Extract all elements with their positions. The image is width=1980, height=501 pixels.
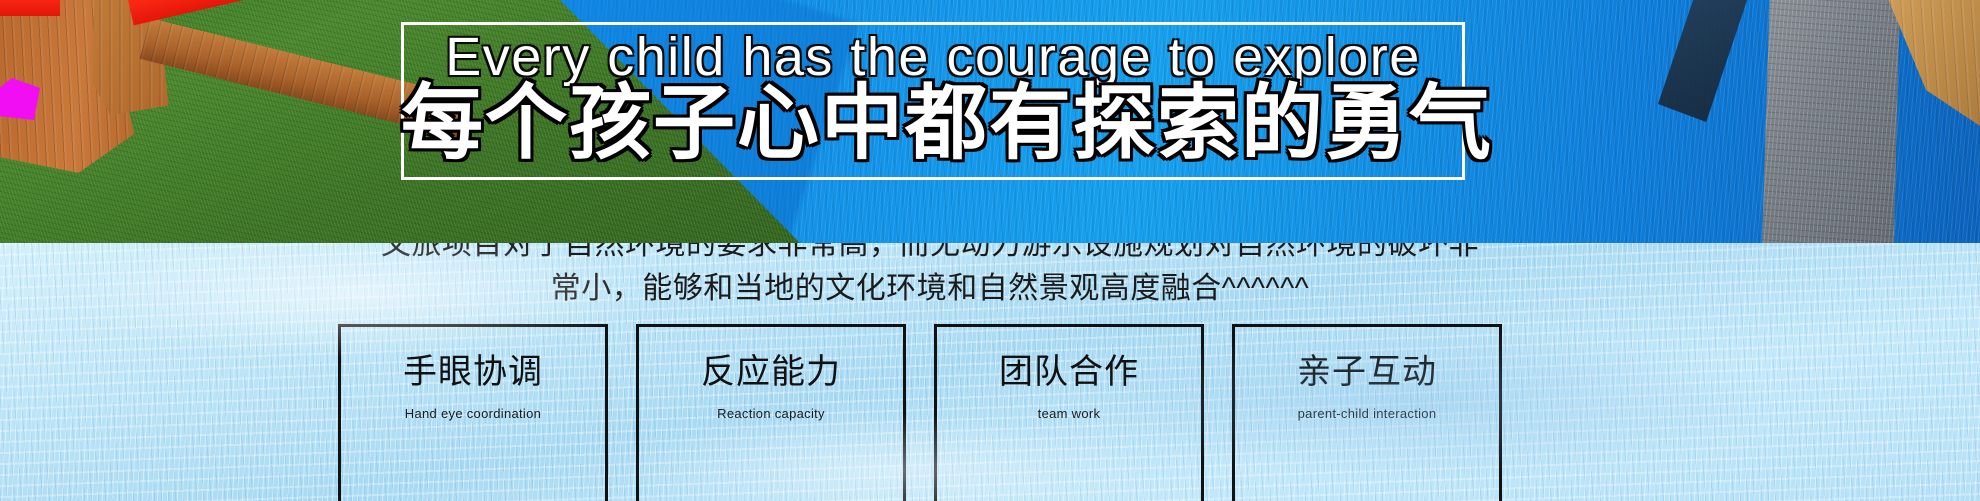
feature-card-title-english: Hand eye coordination xyxy=(341,406,605,421)
feature-card-title-chinese: 团队合作 xyxy=(937,353,1201,392)
feature-card-reaction-capacity[interactable]: 反应能力 Reaction capacity xyxy=(636,324,906,501)
feature-card-team-work[interactable]: 团队合作 team work xyxy=(934,324,1204,501)
feature-card-list: 手眼协调 Hand eye coordination 反应能力 Reaction… xyxy=(338,324,1644,501)
promo-banner: Every child has the courage to explore 每… xyxy=(0,0,1980,501)
intro-paragraph: 文旅项目对于自然环境的要求非常高，而无动力游乐设施规划对自然环境的破坏非常小，能… xyxy=(380,243,1480,310)
feature-card-title-chinese: 亲子互动 xyxy=(1235,353,1499,392)
hero-image: Every child has the courage to explore 每… xyxy=(0,0,1980,243)
feature-card-title-chinese: 反应能力 xyxy=(639,353,903,392)
feature-card-parent-child-interaction[interactable]: 亲子互动 parent-child interaction xyxy=(1232,324,1502,501)
feature-card-title-english: team work xyxy=(937,406,1201,421)
feature-card-hand-eye-coordination[interactable]: 手眼协调 Hand eye coordination xyxy=(338,324,608,501)
feature-card-title-english: parent-child interaction xyxy=(1235,406,1499,421)
content-panel: 文旅项目对于自然环境的要求非常高，而无动力游乐设施规划对自然环境的破坏非常小，能… xyxy=(0,243,1980,501)
feature-card-title-english: Reaction capacity xyxy=(639,406,903,421)
feature-card-title-chinese: 手眼协调 xyxy=(341,353,605,392)
hero-red-stripe-corner xyxy=(0,0,60,16)
hero-title-english: Every child has the courage to explore xyxy=(401,30,1465,84)
hero-title-chinese: 每个孩子心中都有探索的勇气 xyxy=(401,80,1465,169)
